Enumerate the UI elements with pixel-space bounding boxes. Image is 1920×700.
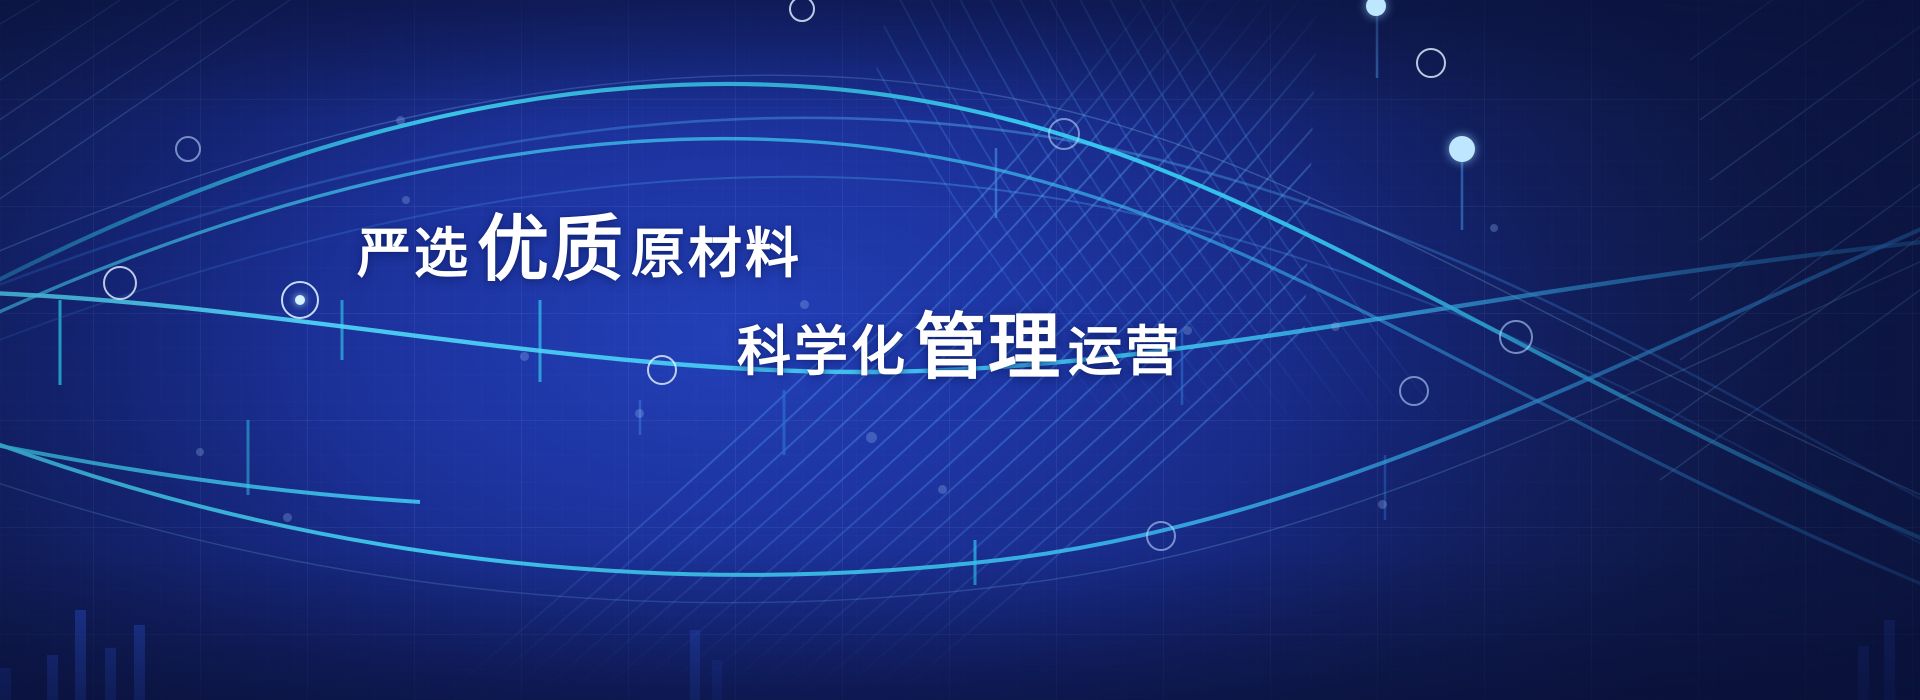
soft-dot [196,448,204,456]
top-fade-overlay [0,0,1920,120]
soft-dot [1331,322,1340,331]
soft-dot [283,513,292,522]
ring-circle [1416,48,1446,78]
soft-dot [402,196,410,204]
soft-dot [938,485,947,494]
bottom-fade-overlay [0,550,1920,700]
soft-dot [800,300,809,309]
soft-dot [866,432,877,443]
ring-circle [647,355,677,385]
ring-circle [1146,521,1176,551]
soft-dot [1490,224,1498,232]
soft-dot [1378,500,1387,509]
ring-with-center-dot [281,281,319,319]
ring-circle [1048,118,1080,150]
center-dot [295,295,305,305]
promo-banner: 严选优质原材料 科学化管理运营 [0,0,1920,700]
glow-dot [1449,136,1475,162]
soft-dot [396,116,405,125]
ring-circle [1399,376,1429,406]
soft-dot [635,409,644,418]
soft-dot [520,352,529,361]
ring-circle [1499,320,1533,354]
soft-dot [1183,326,1192,335]
ring-circle [103,266,137,300]
ring-circle [175,136,201,162]
